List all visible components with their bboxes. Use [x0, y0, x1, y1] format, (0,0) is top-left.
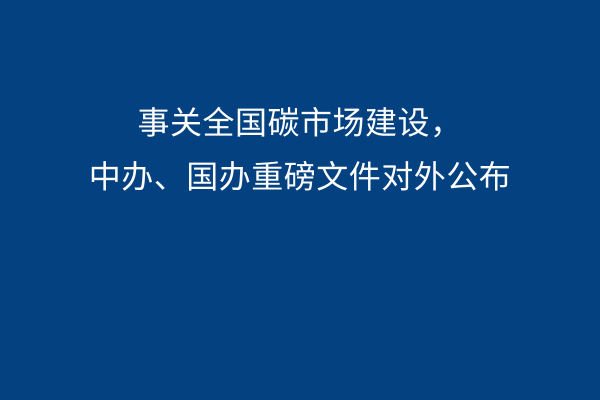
headline-line-1: 事关全国碳市场建设，	[0, 96, 600, 150]
headline-block: 事关全国碳市场建设， 中办、国办重磅文件对外公布	[0, 96, 600, 304]
headline-line-2: 中办、国办重磅文件对外公布	[0, 150, 600, 204]
title-card-slide: 事关全国碳市场建设， 中办、国办重磅文件对外公布	[0, 0, 600, 400]
